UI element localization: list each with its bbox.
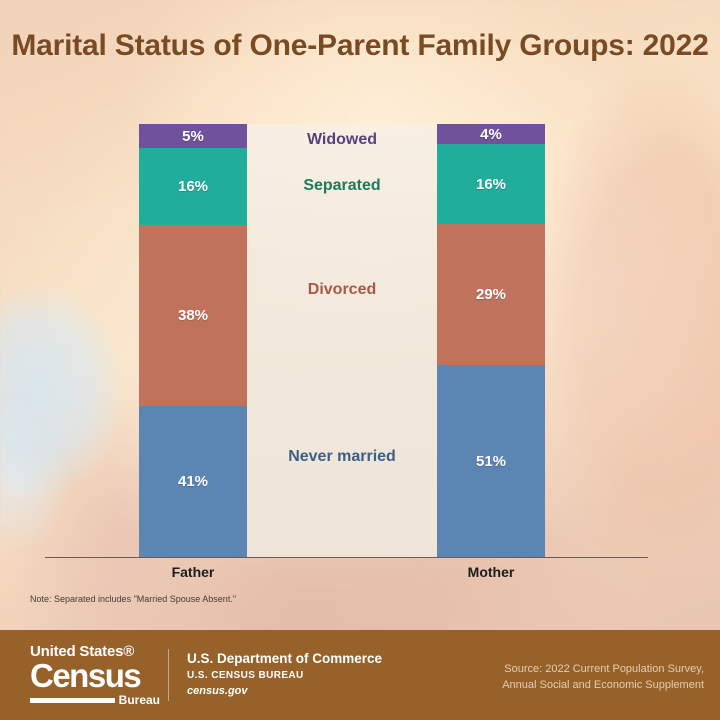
source-line-2: Annual Social and Economic Supplement xyxy=(502,678,704,694)
footer-divider xyxy=(168,649,169,701)
logo-rule xyxy=(30,698,115,703)
axis-tick-father: Father xyxy=(98,564,288,580)
legend-label-separated: Separated xyxy=(247,177,437,195)
segment-father-separated[interactable]: 16% xyxy=(139,148,247,225)
axis-tick-mother: Mother xyxy=(396,564,586,580)
segment-father-divorced[interactable]: 38% xyxy=(139,225,247,406)
department-block: U.S. Department of Commerce U.S. CENSUS … xyxy=(187,650,382,700)
logo-bureau-text: Bureau xyxy=(119,694,160,706)
stacked-bar-chart: 5% 16% 38% 41% 4% 16% 29% 51% Widowed Se… xyxy=(0,0,720,630)
legend-label-never-married: Never married xyxy=(247,448,437,466)
logo-bureau-row: Bureau xyxy=(30,694,160,706)
segment-mother-never-married[interactable]: 51% xyxy=(437,365,545,557)
source-citation: Source: 2022 Current Population Survey, … xyxy=(502,662,704,694)
department-name: U.S. Department of Commerce xyxy=(187,650,382,668)
legend-label-divorced: Divorced xyxy=(247,281,437,299)
logo-census-wordmark: Census xyxy=(30,660,140,691)
axis-baseline xyxy=(45,557,648,558)
census-logo: United States® Census Bureau xyxy=(0,644,160,705)
segment-mother-widowed[interactable]: 4% xyxy=(437,124,545,144)
chart-note: Note: Separated includes "Married Spouse… xyxy=(30,594,236,604)
segment-mother-divorced[interactable]: 29% xyxy=(437,224,545,365)
source-line-1: Source: 2022 Current Population Survey, xyxy=(502,662,704,678)
footer-bar: United States® Census Bureau U.S. Depart… xyxy=(0,630,720,720)
legend-label-widowed: Widowed xyxy=(247,131,437,149)
bureau-name: U.S. CENSUS BUREAU xyxy=(187,668,382,683)
segment-mother-separated[interactable]: 16% xyxy=(437,144,545,224)
census-website-link[interactable]: census.gov xyxy=(187,683,382,700)
segment-father-never-married[interactable]: 41% xyxy=(139,406,247,557)
segment-father-widowed[interactable]: 5% xyxy=(139,124,247,148)
